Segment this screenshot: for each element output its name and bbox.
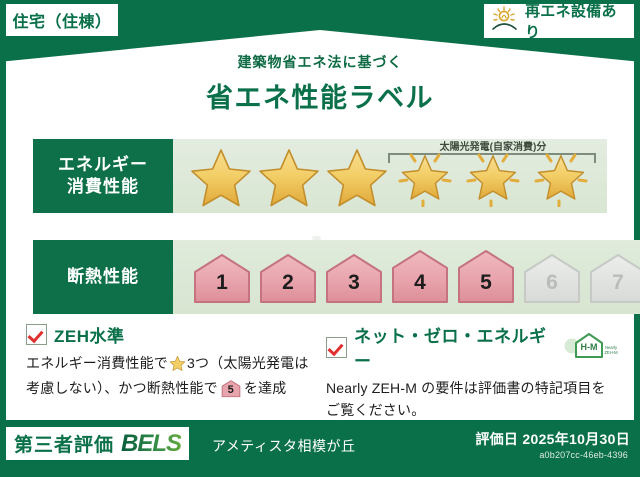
grade-house-inline-icon: 5	[220, 379, 242, 398]
note-nze-title: ネット・ゼロ・エネルギー	[354, 322, 551, 372]
checkbox-checked-icon	[326, 337, 347, 358]
grade-house-7: 7	[587, 248, 640, 306]
checkbox-checked-icon	[26, 324, 47, 345]
insulation-performance-row: 断熱性能 1 2 3 4	[33, 240, 607, 314]
heading-subtitle: 建築物省エネ法に基づく	[0, 52, 640, 72]
sun-horizon-icon	[490, 6, 520, 37]
note-zeh-body-part3: を達成	[244, 380, 287, 396]
heading-title: 省エネ性能ラベル	[0, 76, 640, 115]
grade-house-inline-number: 5	[220, 379, 242, 398]
bels-logo-plate: 第三者評価 BELS	[6, 427, 189, 460]
zeh-m-house-icon: H-M Nearly ZEH-M	[562, 330, 618, 365]
building-type-badge: 住宅（住棟）	[6, 4, 118, 36]
svg-text:ZEH-M: ZEH-M	[604, 350, 618, 355]
grade-house-5: 5	[455, 248, 517, 306]
svg-text:H-M: H-M	[581, 342, 598, 352]
grade-house-3: 3	[323, 248, 385, 306]
grade-house-6: 6	[521, 248, 583, 306]
star-solar-1	[393, 145, 457, 207]
note-net-zero-energy: ネット・ゼロ・エネルギー H-M Nearly ZEH-M Nearly ZEH…	[326, 322, 618, 421]
evaluation-date: 評価日 2025年10月30日	[475, 429, 630, 449]
bels-jp-label: 第三者評価	[14, 430, 114, 457]
grade-number-3: 3	[323, 248, 385, 306]
grade-house-list: 1 2 3 4 5	[173, 248, 640, 306]
insulation-grades-area: 1 2 3 4 5	[173, 240, 640, 314]
grade-number-7: 7	[587, 248, 640, 306]
renewable-equipment-badge: 再エネ設備あり	[484, 4, 634, 38]
insulation-performance-label-box: 断熱性能	[33, 240, 173, 314]
star-icon	[169, 355, 186, 378]
label-footer: 第三者評価 BELS アメティスタ相模が丘 評価日 2025年10月30日 a0…	[0, 420, 640, 477]
energy-performance-label-box: エネルギー 消費性能	[33, 139, 173, 213]
energy-stars-area: 太陽光発電(自家消費)分	[173, 139, 607, 213]
grade-house-1: 1	[191, 248, 253, 306]
grade-number-1: 1	[191, 248, 253, 306]
star-filled-3	[325, 145, 389, 207]
energy-label-line1: エネルギー	[58, 154, 148, 176]
star-filled-1	[189, 145, 253, 207]
grade-number-4: 4	[389, 248, 451, 306]
grade-house-4: 4	[389, 248, 451, 306]
star-filled-2	[257, 145, 321, 207]
grade-number-5: 5	[455, 248, 517, 306]
star-rating	[173, 145, 593, 207]
grade-house-2: 2	[257, 248, 319, 306]
star-solar-3	[529, 145, 593, 207]
note-nze-body: Nearly ZEH-M の要件は評価書の特記項目をご覧ください。	[326, 378, 618, 421]
note-nze-header: ネット・ゼロ・エネルギー H-M Nearly ZEH-M	[326, 322, 618, 372]
energy-performance-row: エネルギー 消費性能 太陽光発電(自家消費)分	[33, 139, 607, 213]
note-zeh-standard: ZEH水準 エネルギー消費性能で3つ（太陽光発電は考慮しない）、かつ断熱性能で5…	[26, 322, 318, 399]
insulation-label: 断熱性能	[67, 266, 139, 288]
bels-en-label: BELS	[121, 430, 181, 458]
energy-performance-label: 住宅（住棟） 再エネ設備あり 建築物省エネ法に基づく	[0, 0, 640, 477]
star-solar-2	[461, 145, 525, 207]
grade-number-2: 2	[257, 248, 319, 306]
note-zeh-body-part1: エネルギー消費性能で	[26, 355, 168, 371]
note-zeh-header: ZEH水準	[26, 322, 318, 347]
building-type-label: 住宅（住棟）	[12, 8, 111, 32]
renewable-badge-label: 再エネ設備あり	[525, 0, 628, 42]
evaluation-id: a0b207cc-46eb-4396	[539, 450, 628, 460]
note-zeh-title: ZEH水準	[54, 322, 125, 347]
label-heading: 建築物省エネ法に基づく 省エネ性能ラベル	[0, 52, 640, 115]
property-name: アメティスタ相模が丘	[212, 436, 355, 456]
energy-label-line2: 消費性能	[67, 176, 139, 198]
note-zeh-body: エネルギー消費性能で3つ（太陽光発電は考慮しない）、かつ断熱性能で5を達成	[26, 353, 318, 399]
grade-number-6: 6	[521, 248, 583, 306]
